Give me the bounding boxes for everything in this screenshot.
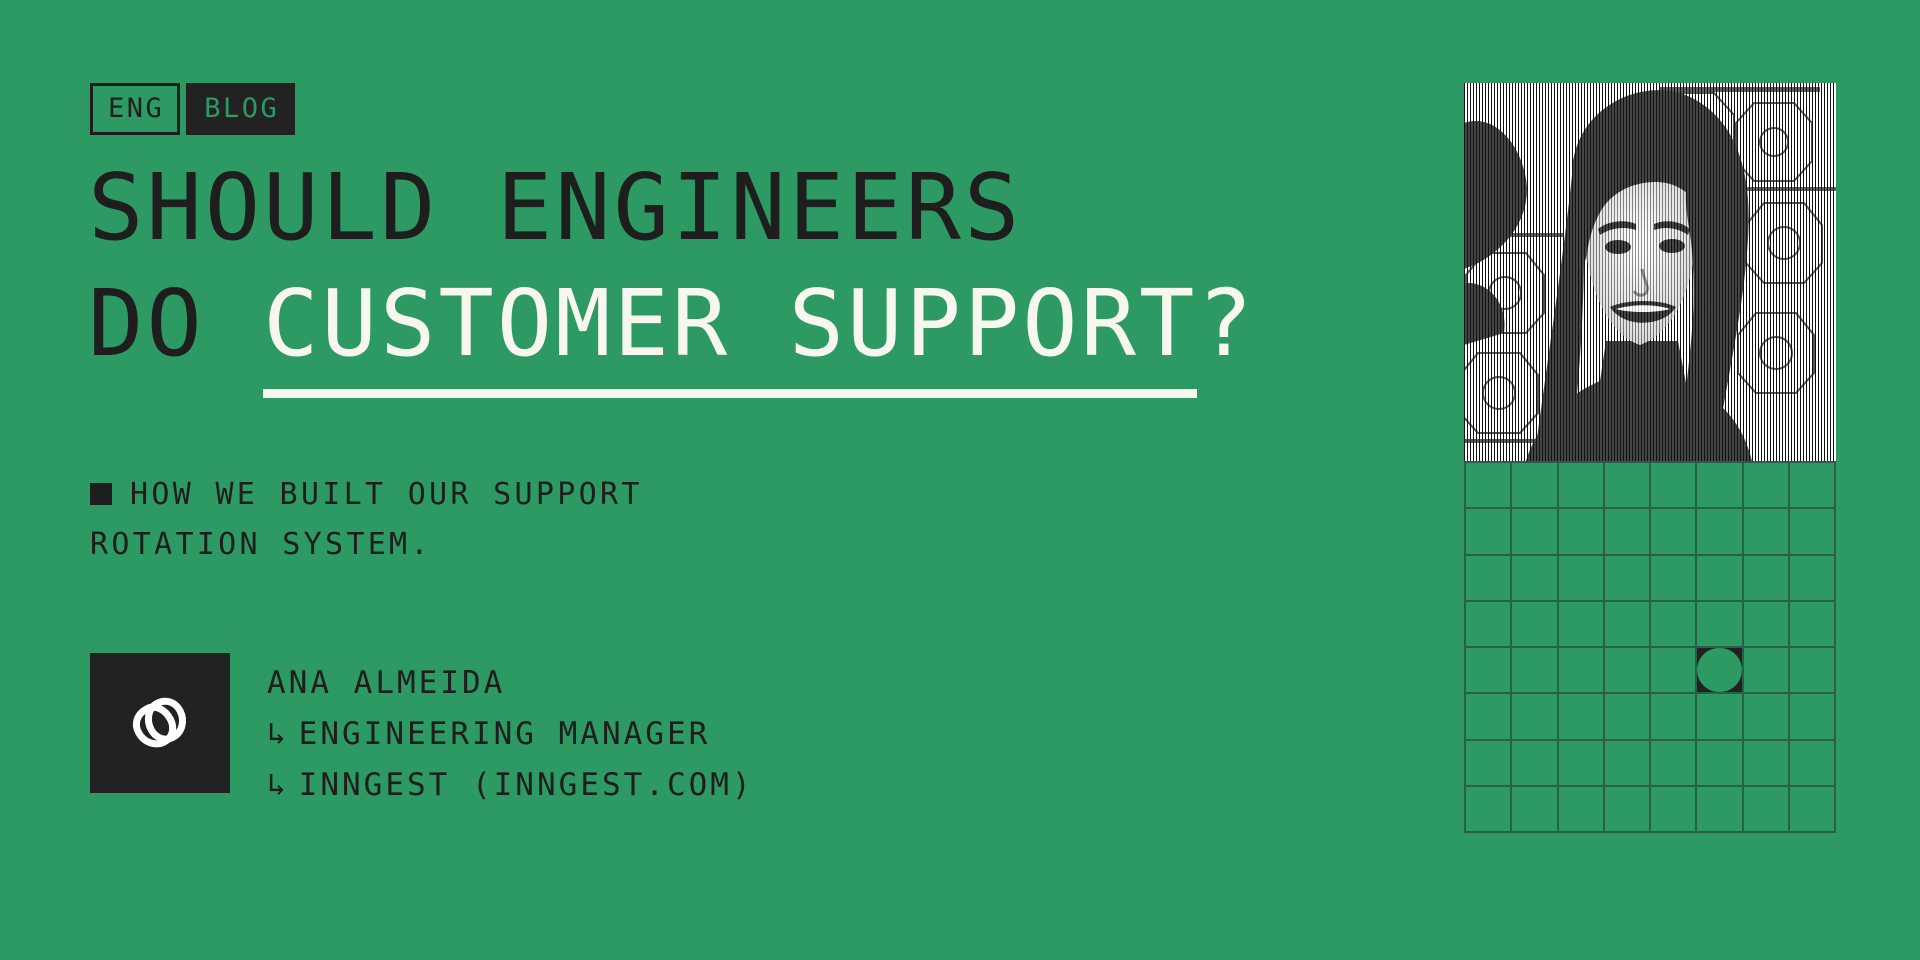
grid-cell xyxy=(1651,556,1697,602)
grid-cell xyxy=(1605,463,1651,509)
grid-cell xyxy=(1559,648,1605,694)
blog-header-card: ENG BLOG SHOULD ENGINEERS DO CUSTOMER SU… xyxy=(0,0,1920,960)
author-company-line: ↳INNGEST (INNGEST.COM) xyxy=(267,760,754,811)
grid-cell xyxy=(1790,602,1836,648)
headline-question-mark: ? xyxy=(1197,270,1255,377)
grid-cell xyxy=(1651,787,1697,833)
grid-cell xyxy=(1605,694,1651,740)
grid-cell xyxy=(1466,463,1512,509)
inngest-logo xyxy=(90,653,230,793)
arrow-icon: ↳ xyxy=(267,760,289,811)
grid-cell xyxy=(1512,556,1558,602)
square-bullet-icon xyxy=(90,483,112,505)
author-company: INNGEST (INNGEST.COM) xyxy=(299,767,754,803)
author-details: ANA ALMEIDA ↳ENGINEERING MANAGER ↳INNGES… xyxy=(267,653,754,811)
grid-cell xyxy=(1744,787,1790,833)
grid-cell xyxy=(1790,463,1836,509)
grid-cell xyxy=(1697,694,1743,740)
author-role: ENGINEERING MANAGER xyxy=(299,716,711,752)
grid-cell xyxy=(1790,787,1836,833)
grid-cell xyxy=(1790,648,1836,694)
grid-cell xyxy=(1559,463,1605,509)
badge-eng[interactable]: ENG xyxy=(90,83,180,135)
subtitle-line-2: ROTATION SYSTEM. xyxy=(90,527,432,562)
grid-cell xyxy=(1697,602,1743,648)
grid-cell xyxy=(1697,509,1743,555)
grid-cell xyxy=(1512,741,1558,787)
author-name: ANA ALMEIDA xyxy=(267,658,754,709)
grid-cell xyxy=(1512,694,1558,740)
grid-cell xyxy=(1651,648,1697,694)
grid-cell xyxy=(1744,648,1790,694)
grid-cell xyxy=(1605,509,1651,555)
grid-cell xyxy=(1466,602,1512,648)
grid-cell xyxy=(1559,602,1605,648)
headline-line-1: SHOULD ENGINEERS xyxy=(88,150,1428,266)
author-block: ANA ALMEIDA ↳ENGINEERING MANAGER ↳INNGES… xyxy=(90,653,754,811)
subtitle-line-1: HOW WE BUILT OUR SUPPORT xyxy=(130,477,643,512)
page-title: SHOULD ENGINEERS DO CUSTOMER SUPPORT? xyxy=(88,150,1428,382)
headline-highlight: CUSTOMER SUPPORT xyxy=(263,266,1197,382)
grid-cell xyxy=(1466,509,1512,555)
grid-cell xyxy=(1744,463,1790,509)
grid-cell xyxy=(1651,694,1697,740)
grid-cell xyxy=(1466,787,1512,833)
grid-cell xyxy=(1605,648,1651,694)
grid-cell xyxy=(1559,556,1605,602)
grid-cell xyxy=(1651,602,1697,648)
grid-cell xyxy=(1512,509,1558,555)
grid-cell xyxy=(1790,694,1836,740)
grid-cell xyxy=(1697,463,1743,509)
grid-cell xyxy=(1512,463,1558,509)
grid-cell xyxy=(1651,463,1697,509)
grid-cell xyxy=(1744,741,1790,787)
headline-line-2-prefix: DO xyxy=(88,270,263,377)
grid-cell xyxy=(1559,787,1605,833)
grid-cell xyxy=(1605,556,1651,602)
grid-cell xyxy=(1744,509,1790,555)
grid-cell xyxy=(1697,556,1743,602)
grid-cell xyxy=(1790,741,1836,787)
grid-cell xyxy=(1605,602,1651,648)
decorative-grid xyxy=(1464,461,1836,833)
grid-cell xyxy=(1744,556,1790,602)
grid-cell xyxy=(1512,787,1558,833)
grid-cell xyxy=(1744,602,1790,648)
badge-blog[interactable]: BLOG xyxy=(186,83,295,135)
grid-cell xyxy=(1744,694,1790,740)
grid-cell xyxy=(1559,694,1605,740)
grid-cell xyxy=(1512,648,1558,694)
arrow-icon: ↳ xyxy=(267,709,289,760)
author-role-line: ↳ENGINEERING MANAGER xyxy=(267,709,754,760)
grid-cell-marker xyxy=(1697,648,1743,694)
headline-line-2: DO CUSTOMER SUPPORT? xyxy=(88,266,1428,382)
author-portrait xyxy=(1464,83,1836,461)
grid-cell xyxy=(1559,741,1605,787)
grid-cell xyxy=(1697,787,1743,833)
grid-cell xyxy=(1605,787,1651,833)
grid-cell xyxy=(1697,741,1743,787)
badge-row: ENG BLOG xyxy=(90,83,295,135)
grid-cell xyxy=(1512,602,1558,648)
grid-cell xyxy=(1790,509,1836,555)
grid-cell xyxy=(1466,741,1512,787)
grid-cell xyxy=(1651,509,1697,555)
grid-cell xyxy=(1790,556,1836,602)
grid-cell xyxy=(1605,741,1651,787)
grid-cell xyxy=(1466,648,1512,694)
grid-cell xyxy=(1466,694,1512,740)
grid-cell xyxy=(1559,509,1605,555)
subtitle: HOW WE BUILT OUR SUPPORTROTATION SYSTEM. xyxy=(90,470,790,570)
grid-cell xyxy=(1651,741,1697,787)
grid-cell xyxy=(1466,556,1512,602)
